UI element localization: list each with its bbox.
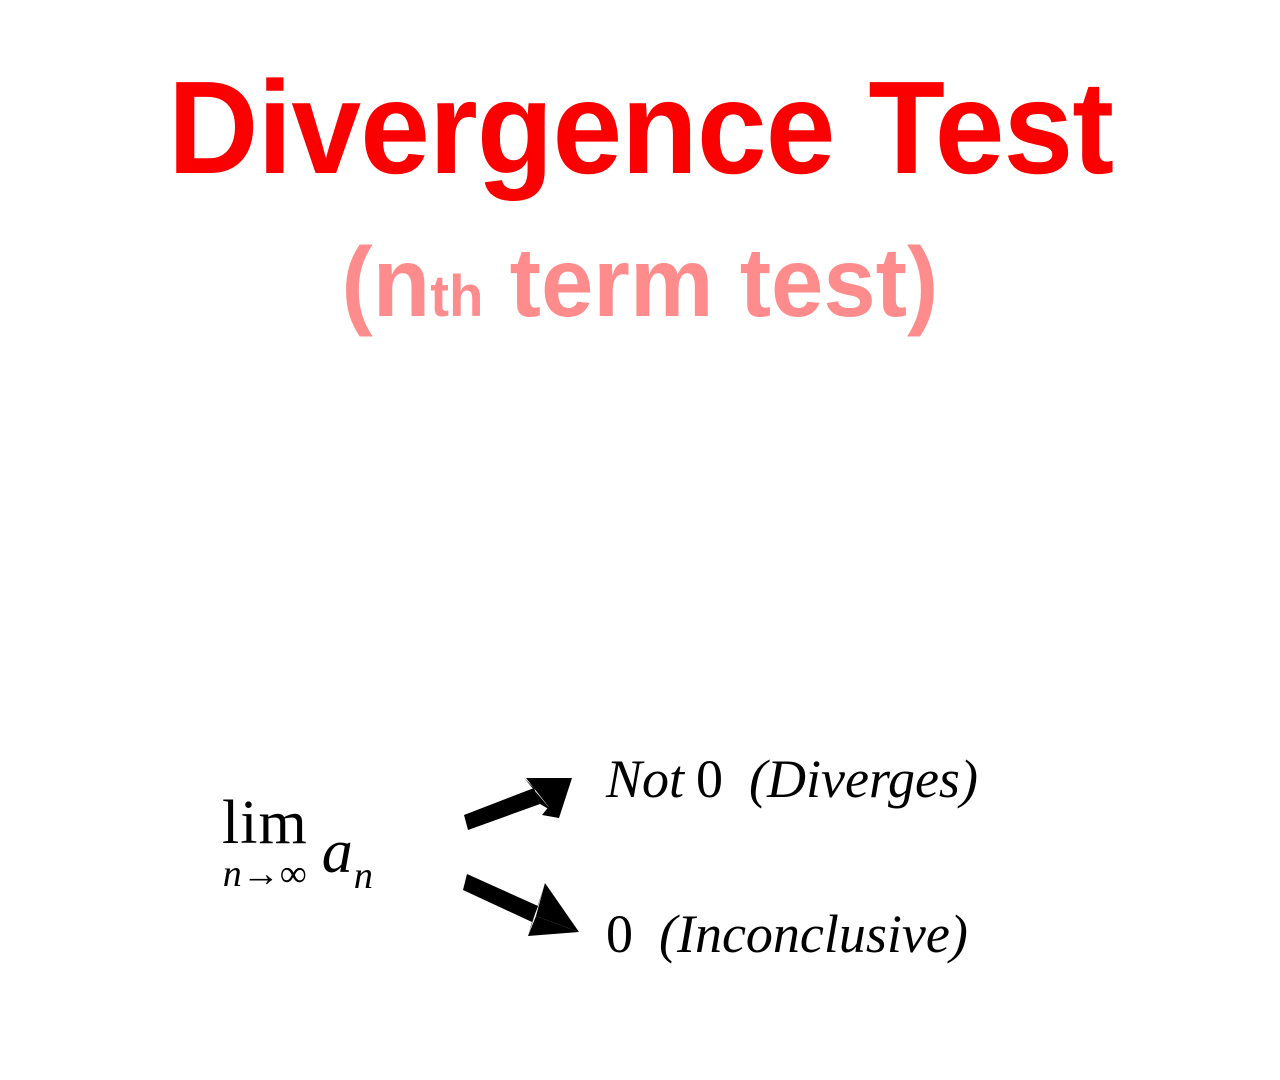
limit-operator: lim [222, 792, 308, 854]
subtitle-ordinal-suffix: th [430, 264, 483, 329]
right-arrow-icon: → [242, 853, 280, 895]
branch-inconclusive-value: 0 [606, 904, 633, 964]
branch-diverges-value: 0 [696, 749, 723, 809]
arrow-up-right-icon [464, 778, 572, 830]
sequence-term-subscript: n [354, 855, 373, 897]
branch-diverges: Not0(Diverges) [606, 752, 978, 806]
page-title: Divergence Test [167, 62, 1112, 194]
subtitle-open-paren: (n [342, 227, 431, 337]
limit-expression: lim n→∞ an [222, 792, 372, 897]
sequence-term-base: a [322, 818, 353, 886]
title-block: Divergence Test [0, 62, 1280, 194]
limit-operator-stack: lim n→∞ [222, 792, 308, 893]
branch-diverges-conclusion: (Diverges) [749, 749, 978, 809]
subtitle-rest: term test) [484, 227, 939, 337]
limit-subscript: n→∞ [222, 855, 308, 893]
branch-arrows [0, 360, 1280, 1080]
sequence-term: an [322, 821, 372, 883]
page-subtitle: (nth term test) [342, 233, 939, 331]
branch-inconclusive-conclusion: (Inconclusive) [659, 904, 968, 964]
branch-inconclusive: 0(Inconclusive) [606, 907, 968, 961]
infinity-icon: ∞ [280, 853, 307, 895]
subtitle-block: (nth term test) [0, 233, 1280, 331]
arrow-down-right-icon [463, 874, 579, 936]
slide-canvas: Divergence Test (nth term test) lim n→∞ … [0, 0, 1280, 720]
branch-diverges-value-qualifier: Not [606, 749, 684, 809]
math-diagram: lim n→∞ an Not0(Diverges) 0(Inconclusive… [0, 360, 1280, 660]
limit-variable: n [223, 853, 242, 895]
